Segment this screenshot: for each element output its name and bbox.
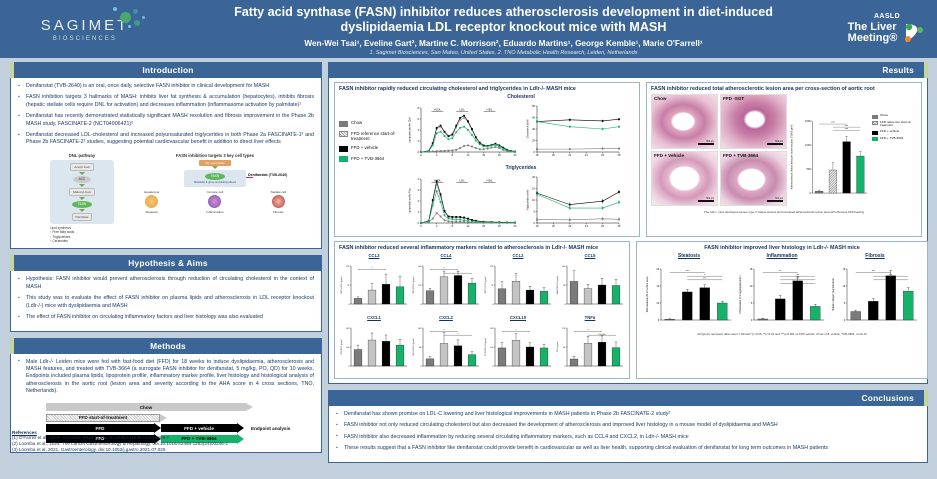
svg-text:KC/CXCL1 (pg/ml): KC/CXCL1 (pg/ml) [341,339,343,354]
hypothesis-body: Hypothesis: FASN inhibitor would prevent… [10,271,322,331]
cell-type-name: Immune cell [207,190,223,194]
legend-label: Chow [880,114,888,118]
poster-authors: Wen-Wei Tsai¹, Eveline Gart², Martine C.… [174,39,833,48]
svg-text:**: ** [457,334,459,336]
reference-item: (3) Loomba et al. 2021. Gastroenterology… [12,447,342,453]
fasn-chip: FASN [205,173,225,180]
chart-cell-ccl3: CCL3 075150MIP-1α/CCL3 (pg/ml)** [339,253,409,313]
poster-title-line2: dyslipidaemia LDL receptor knockout mice… [174,20,833,35]
legend-swatch-icon [339,131,348,137]
dnl-step-label: FASN [72,201,92,208]
legend-item-chow: Chow [339,120,403,127]
svg-text:12: 12 [467,224,470,228]
chart-cxcl10: 0100200IP-10/CXCL10 (pg/ml)** [483,320,553,370]
legend-item-sot: FFD reference start-of-treatment [872,121,917,129]
hypothesis-bullets: Hypothesis: FASN inhibitor would prevent… [18,276,314,321]
svg-text:**: ** [457,272,459,274]
results-body: FASN inhibitor rapidly reduced circulati… [328,78,928,384]
svg-text:150: 150 [418,285,421,287]
cell-types-row: Hepatocyte Steatosis Immune cell Inflamm… [120,190,310,214]
fasn-inhibition-box: FASN Metabolic & gene-remodeling effects… [184,170,246,187]
section-header-results: Results [328,62,928,78]
svg-text:4: 4 [418,128,420,132]
svg-text:22: 22 [568,224,571,228]
dnl-step-label: Palmitate [72,213,93,221]
aasld-line1: The Liver [848,22,898,33]
legend-item-tvb: FFD + TVB-3664 [339,156,403,163]
svg-text:***: *** [443,330,446,332]
poster-header: SAGIMET BIOSCIENCES Fatty acid synthase … [0,0,937,58]
arrow-down-icon [79,184,85,187]
svg-text:20: 20 [498,224,501,228]
card-lesion-area: FASN inhibitor reduced total atheroscler… [646,82,922,237]
svg-text:0: 0 [492,366,493,368]
svg-text:0: 0 [751,319,753,322]
svg-text:0: 0 [418,150,420,154]
chart-steatosis: 0204060Total steatosis (% of surface are… [645,259,733,325]
legend-swatch-icon [339,156,348,162]
svg-text:5: 5 [751,302,753,305]
chart-plasma-cholesterol: 020406080182022242628Cholesterol (mM) [525,100,623,162]
histology-label: FFD + TVB-3664 [723,153,758,158]
left-column: Introduction Denifanstat (TVB-2640) is a… [10,62,322,453]
dnl-pathway-caption: DNL pathway [50,153,114,158]
chart-lipoprotein-triglycerides: 0123404812162024Lipoprotein profile Trig… [407,171,519,233]
legend-swatch-icon [872,121,878,125]
svg-text:4: 4 [436,153,438,157]
legend-label: FFD reference start-of-treatment [351,131,403,142]
lesion-footnote: The Ldlr-/- mice developed severe type V… [651,210,917,214]
list-item: Hypothesis: FASN inhibitor would prevent… [18,276,314,291]
liver-meeting-icon [900,20,926,46]
scalebar-icon [698,143,714,145]
chart-plasma-triglycerides: 05101520182022242628Triglycerides (mM) [525,171,623,233]
svg-text:5: 5 [534,210,536,214]
cell-type-hepatocyte: Hepatocyte Steatosis [137,190,167,214]
svg-text:0: 0 [420,366,421,368]
chart-ccl5: 080160RANTES/CCL5 (pg/ml) [555,258,625,308]
svg-text:4: 4 [436,224,438,228]
introduction-figure: DNL pathway Acetyl-CoA ACC Malonyl-CoA F… [18,151,314,244]
svg-text:160: 160 [418,328,421,330]
svg-text:150: 150 [346,266,349,268]
svg-text:26: 26 [601,153,604,157]
svg-text:24: 24 [585,153,588,157]
list-item: This study was to evaluate the effect of… [18,295,314,310]
histology-label: FFD -SOT [723,96,744,101]
svg-text:VLDL: VLDL [434,179,442,183]
list-item: FASN inhibitor not only reduced circulat… [336,422,920,429]
svg-text:Cholesterol (mM): Cholesterol (mM) [526,119,529,138]
svg-text:MCP-1/CCL2 (pg/ml): MCP-1/CCL2 (pg/ml) [485,276,487,293]
conclusions-body: Denifanstat has shown promise on LDL-C l… [328,406,928,463]
sagimet-dots-icon [106,6,150,30]
svg-text:80: 80 [419,347,421,349]
chart-ccl4: 0150300MIP-1β/CCL4 (pg/ml)***** [411,258,481,308]
svg-text:20: 20 [657,302,660,305]
svg-text:24: 24 [514,153,517,157]
histology-label: Chow [654,96,667,101]
poster-root: SAGIMET BIOSCIENCES Fatty acid synthase … [0,0,937,479]
chart-cell-ccl5: CCL5 080160RANTES/CCL5 (pg/ml) [555,253,625,313]
svg-text:75: 75 [491,285,493,287]
introduction-bullets: Denifanstat (TVB-2640) is an oral, once … [18,83,314,147]
chart-fibrosis: 051015Hepatic collagen (mg/total liver)*… [831,259,919,325]
cell-type-outcome: Fibrosis [273,210,284,214]
list-item: Denifanstat has shown promise on LDL-C l… [336,411,920,418]
chart-ccl2: 075150MCP-1/CCL2 (pg/ml) [483,258,553,308]
svg-text:5: 5 [844,302,846,305]
chart-lipoprotein-cholesterol: 0246804812162024Lipoprotein profile Chol… [407,100,519,162]
poster-title-line1: Fatty acid synthase (FASN) inhibitor red… [174,5,833,20]
svg-text:LDL: LDL [459,179,465,183]
svg-text:Total steatosis (% of surface: Total steatosis (% of surface area) [646,276,649,312]
svg-text:0: 0 [418,221,420,225]
stats-footnote: All figures represent data mean ± SD wit… [641,332,923,336]
histology-image-chow: Chow 500 µm [651,94,718,149]
card-inflammatory-markers: FASN inhibitor reduced several inflammat… [334,241,630,379]
svg-text:20: 20 [498,153,501,157]
svg-text:15: 15 [532,187,535,191]
svg-text:10: 10 [750,285,753,288]
svg-text:2: 2 [418,139,420,143]
svg-text:15: 15 [750,268,753,271]
list-item: These results suggest that a FASN inhibi… [336,445,920,452]
inflammatory-chart-grid: CCL3 075150MIP-1α/CCL3 (pg/ml)** CCL4 01… [339,253,625,375]
svg-text:IP-10/CXCL10 (pg/ml): IP-10/CXCL10 (pg/ml) [485,338,487,356]
svg-text:200: 200 [490,328,493,330]
svg-text:20: 20 [532,175,535,179]
svg-text:HDL: HDL [487,108,493,112]
arrow-down-icon [79,197,85,200]
chart-ccl3: 075150MIP-1α/CCL3 (pg/ml)** [339,258,409,308]
svg-text:120: 120 [562,328,565,330]
list-item: FASN inhibitor also decreased inflammati… [336,434,920,441]
svg-text:Lipoprotein profile Trig: Lipoprotein profile Trig [408,188,411,213]
chart-total-lesion-area: 050010001500Atherosclerotic lesion area … [790,94,869,208]
dnl-step-label: Malonyl-CoA [69,188,95,196]
svg-text:24: 24 [514,224,517,228]
svg-text:18: 18 [536,224,539,228]
chart-cell-inflammation: Inflammation 051015Inflammation (# of ag… [738,253,826,330]
svg-text:TNFα (pg/ml): TNFα (pg/ml) [557,341,559,352]
list-item: Denifanstat decreased LDL-cholesterol an… [18,132,314,147]
section-header-hypothesis: Hypothesis & Aims [10,255,322,271]
svg-text:0: 0 [844,319,846,322]
cell-type-name: Hepatocyte [144,190,159,194]
scalebar-icon [767,200,783,202]
methods-bullets: Male Ldlr-/- Leiden mice were fed with f… [18,359,314,396]
inhibitor-label: Denifanstat (TVB-2640) [248,173,290,177]
cell-type-stellate: Stellate cell Fibrosis [263,190,293,214]
immune-cell-icon [208,195,221,208]
references-block: References (1) O'Farrell et al., 2022. S… [12,430,342,454]
results-row-2: FASN inhibitor reduced several inflammat… [334,241,922,379]
legend-item-vehicle: FFD + vehicle [339,145,403,152]
svg-text:LDL: LDL [459,108,465,112]
legend-label: FFD + TVB-3664 [351,156,384,161]
list-item: The effect of FASN inhibitor on circulat… [18,314,314,321]
svg-text:Inflammation (# of aggregates/: Inflammation (# of aggregates/mm²) [739,275,742,313]
right-column: Results FASN inhibitor rapidly reduced c… [328,62,928,463]
svg-text:1000: 1000 [805,143,811,147]
fasn-cells-caption: FASN inhibition targets 3 key cell types [120,153,310,158]
svg-text:6: 6 [418,117,420,121]
card-title-inflammatory: FASN inhibitor reduced several inflammat… [339,245,625,251]
svg-text:150: 150 [346,347,349,349]
svg-text:60: 60 [563,347,565,349]
svg-text:300: 300 [418,266,421,268]
svg-text:8: 8 [452,224,454,228]
svg-text:28: 28 [618,153,621,157]
svg-text:60: 60 [532,116,535,120]
card-lipoprotein: FASN inhibitor rapidly reduced circulati… [334,82,640,237]
list-item: Male Ldlr-/- Leiden mice were fed with f… [18,359,314,396]
scalebar-icon [767,143,783,145]
svg-text:16: 16 [482,153,485,157]
svg-text:0: 0 [809,191,811,195]
legend-item-chow: Chow [872,114,917,119]
histology-label: FFD + Vehicle [654,153,684,158]
svg-text:3: 3 [418,188,420,192]
svg-text:300: 300 [346,328,349,330]
section-header-introduction: Introduction [10,62,322,78]
chart-cell-cxcl10: CXCL10 0100200IP-10/CXCL10 (pg/ml)** [483,315,553,375]
card-liver-histology: FASN inhibitor improved liver histology … [636,241,928,379]
svg-text:0: 0 [420,304,421,306]
svg-text:0: 0 [492,304,493,306]
dnl-step-label: ACC [73,176,92,183]
cell-type-immune: Immune cell Inflammation [200,190,230,214]
chart-cell-ccl4: CCL4 0150300MIP-1β/CCL4 (pg/ml)***** [411,253,481,313]
svg-text:500: 500 [806,167,811,171]
svg-text:80: 80 [532,104,535,108]
chart-cell-cxcl1: CXCL1 0150300KC/CXCL1 (pg/ml) [339,315,409,375]
svg-text:Lipoprotein profile Chol: Lipoprotein profile Chol [408,117,411,143]
svg-text:**: ** [371,268,373,270]
svg-text:Triglycerides (mM): Triglycerides (mM) [526,190,529,211]
svg-text:20: 20 [532,139,535,143]
legend-label: FFD + TVB-3664 [880,137,903,141]
stellate-cell-icon [272,195,285,208]
legend-label: FFD reference start-of-treatment [880,121,917,129]
cell-type-name: Stellate cell [271,190,286,194]
svg-text:16: 16 [482,224,485,228]
chart-cxcl1: 0150300KC/CXCL1 (pg/ml) [339,320,409,370]
svg-text:RANTES/CCL5 (pg/ml): RANTES/CCL5 (pg/ml) [556,275,559,294]
svg-text:40: 40 [657,285,660,288]
svg-text:150: 150 [490,266,493,268]
list-item: Denifanstat (TVB-2640) is an oral, once … [18,83,314,90]
dnl-pathway-diagram: Acetyl-CoA ACC Malonyl-CoA FASN Palmitat… [50,160,114,224]
svg-text:***: *** [443,268,446,270]
results-row-1: FASN inhibitor rapidly reduced circulati… [334,82,922,237]
svg-text:***: *** [587,330,590,332]
legend-swatch-icon [872,115,878,119]
legend-label: FFD + vehicle [880,130,899,134]
svg-text:18: 18 [536,153,539,157]
fasn-cells-panel: FASN inhibition targets 3 key cell types… [120,153,310,244]
card-title-lesion: FASN inhibitor reduced total atheroscler… [651,86,917,92]
arrow-down-icon [79,172,85,175]
chart-inflammation: 051015Inflammation (# of aggregates/mm²)… [738,259,826,325]
cell-type-outcome: Inflammation [206,210,223,214]
svg-text:4: 4 [418,177,420,181]
poster-affiliations: 1. Sagimet Biosciences, San Mateo, Unite… [174,50,833,56]
svg-text:0: 0 [564,304,565,306]
hepatocyte-icon [145,195,158,208]
svg-text:160: 160 [562,266,565,268]
timeline-bar-chow: Chow [46,403,246,411]
svg-text:26: 26 [601,224,604,228]
arrow-down-icon [79,209,85,212]
section-header-methods: Methods [10,338,322,354]
svg-text:1500: 1500 [805,119,811,123]
svg-text:80: 80 [563,285,565,287]
chart-cell-steatosis: Steatosis 0204060Total steatosis (% of s… [645,253,733,330]
card-title-lipoprotein: FASN inhibitor rapidly reduced circulati… [339,86,635,92]
svg-text:VLDL: VLDL [434,108,442,112]
svg-text:0: 0 [420,224,422,228]
svg-text:10: 10 [532,198,535,202]
results-legend: Chow FFD reference start-of-treatment FF… [339,94,403,166]
svg-text:P=0.06: P=0.06 [599,334,607,336]
cell-type-outcome: Steatosis [145,210,157,214]
card-title-liver: FASN inhibitor improved liver histology … [641,245,923,251]
svg-text:0: 0 [348,366,349,368]
svg-text:28: 28 [618,224,621,228]
dnl-pathway-panel: DNL pathway Acetyl-CoA ACC Malonyl-CoA F… [50,153,114,244]
chart-cell-fibrosis: Fibrosis 051015Hepatic collagen (mg/tota… [831,253,919,330]
svg-text:40: 40 [532,127,535,131]
legend-item-sot: FFD reference start-of-treatment [339,131,403,142]
svg-text:100: 100 [490,347,493,349]
lesion-chart-legend: Chow FFD reference start-of-treatment FF… [872,94,917,141]
legend-swatch-icon [872,137,878,141]
svg-text:**: ** [515,330,517,332]
svg-text:12: 12 [467,153,470,157]
chart-cell-tnfa: TNFα 060120TNFα (pg/ml)***P=0.06 [555,315,625,375]
fasn-box-label: Metabolic & gene-remodeling effects [194,181,236,184]
liver-chart-grid: Steatosis 0204060Total steatosis (% of s… [641,253,923,330]
histology-image-sot: FFD -SOT 500 µm [720,94,787,149]
legend-swatch-icon [339,146,348,152]
svg-text:20: 20 [552,224,555,228]
chart-cell-ccl2: CCL2 075150MCP-1/CCL2 (pg/ml) [483,253,553,313]
aasld-label: AASLD [874,13,900,20]
svg-text:15: 15 [843,268,846,271]
sagimet-logo: SAGIMET BIOSCIENCES [0,0,170,58]
svg-text:Hepatic collagen (mg/total liv: Hepatic collagen (mg/total liver) [832,278,835,312]
svg-text:24: 24 [585,224,588,228]
dnl-step-label: Acetyl-CoA [70,163,93,171]
aasld-line2: Meeting® [848,33,898,44]
svg-text:10: 10 [843,285,846,288]
svg-text:2: 2 [418,199,420,203]
poster-title-block: Fatty acid synthase (FASN) inhibitor red… [170,2,837,56]
dnl-legend-text: Lipid synthesis ↑ Free fatty acids ↑ Tri… [50,226,114,244]
chart-tnfa: 060120TNFα (pg/ml)***P=0.06 [555,320,625,370]
svg-text:MIP-2/CXCL2 (pg/ml): MIP-2/CXCL2 (pg/ml) [413,338,415,356]
svg-text:75: 75 [347,285,349,287]
legend-swatch-icon [339,121,348,127]
svg-text:8: 8 [452,153,454,157]
svg-text:0: 0 [564,366,565,368]
svg-text:1: 1 [418,210,420,214]
legend-label: FFD + vehicle [351,145,378,150]
svg-text:MIP-1α/CCL3 (pg/ml): MIP-1α/CCL3 (pg/ml) [341,276,343,293]
list-item: Denifanstat has recently demonstrated st… [18,113,314,128]
scalebar-icon [698,200,714,202]
legend-item-tvb: FFD + TVB-3664 [872,137,917,142]
svg-text:HDL: HDL [487,179,493,183]
histology-image-grid: Chow 500 µm FFD -SOT 500 µm FFD + Vehicl… [651,94,787,206]
aasld-logo: AASLD The Liver Meeting® [837,0,937,58]
introduction-body: Denifanstat (TVB-2640) is an oral, once … [10,78,322,249]
legend-swatch-icon [872,131,878,135]
conclusions-bullets: Denifanstat has shown promise on LDL-C l… [336,411,920,453]
svg-text:0: 0 [348,304,349,306]
chart-cxcl2: 080160MIP-2/CXCL2 (pg/ml)***** [411,320,481,370]
legend-item-vehicle: FFD + vehicle [872,130,917,135]
svg-text:60: 60 [657,268,660,271]
chart-cell-cxcl2: CXCL2 080160MIP-2/CXCL2 (pg/ml)***** [411,315,481,375]
svg-text:8: 8 [418,106,420,110]
histology-image-tvb: FFD + TVB-3664 500 µm [720,151,787,206]
sagimet-logo-subtext: BIOSCIENCES [41,36,130,42]
legend-label: Chow [351,120,362,125]
svg-text:22: 22 [568,153,571,157]
timeline-bar-sot: FFD start-of-treatment [46,414,160,422]
histology-image-vehicle: FFD + Vehicle 500 µm [651,151,718,206]
svg-text:0: 0 [420,153,422,157]
svg-text:20: 20 [552,153,555,157]
svg-text:Atherosclerotic lesion area pe: Atherosclerotic lesion area per cross-se… [790,125,794,190]
section-header-conclusions: Conclusions [328,390,928,406]
svg-text:MIP-1β/CCL4 (pg/ml): MIP-1β/CCL4 (pg/ml) [413,276,415,293]
svg-text:0: 0 [658,319,660,322]
list-item: FASN inhibition targets 3 hallmarks of M… [18,94,314,109]
